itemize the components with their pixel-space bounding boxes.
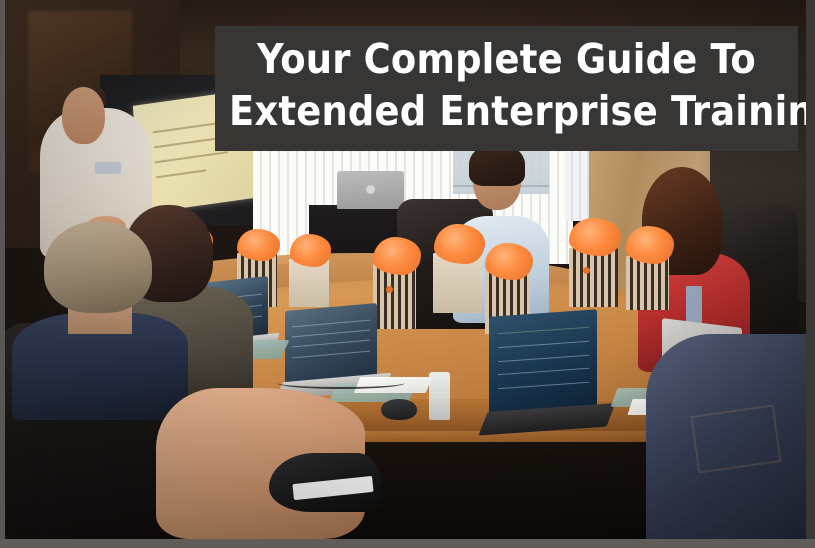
water-bottle: [429, 372, 450, 421]
tissue-paper-7: [569, 218, 620, 256]
tissue-paper-6: [485, 243, 533, 281]
laptop-2-screen: [285, 303, 377, 384]
denim-pocket: [690, 404, 781, 473]
image-canvas: Your Complete Guide To Extended Enterpri…: [0, 0, 815, 548]
laptop-2: [285, 303, 377, 384]
tissue-paper-4: [373, 237, 421, 275]
tissue-paper-8: [626, 226, 674, 264]
computer-mouse: [381, 399, 417, 421]
tissue-paper-2: [237, 229, 280, 261]
presenter-name-badge: [95, 162, 121, 174]
macbook-laptop: [337, 171, 404, 209]
tissue-paper-5: [434, 224, 485, 264]
foreground-attendee-head: [44, 221, 152, 313]
laptop-3-screen: [489, 309, 597, 414]
title-line-1: Your Complete Guide To: [229, 34, 784, 86]
gift-bag-logo-7: [583, 267, 590, 274]
frame-border-left: [0, 0, 5, 548]
title-overlay-banner: Your Complete Guide To Extended Enterpri…: [215, 26, 798, 151]
presenter-head: [62, 87, 105, 144]
gift-bag-7: [569, 248, 617, 307]
apple-logo-icon: [366, 185, 375, 194]
laptop-3: [489, 309, 597, 414]
title-line-2: Extended Enterprise Training: [229, 86, 784, 138]
gift-bag-8: [626, 256, 669, 310]
gift-bag-logo-4: [386, 286, 393, 293]
frame-border-right: [806, 0, 815, 548]
tissue-paper-3: [290, 234, 332, 266]
frame-border-bottom: [0, 539, 815, 548]
